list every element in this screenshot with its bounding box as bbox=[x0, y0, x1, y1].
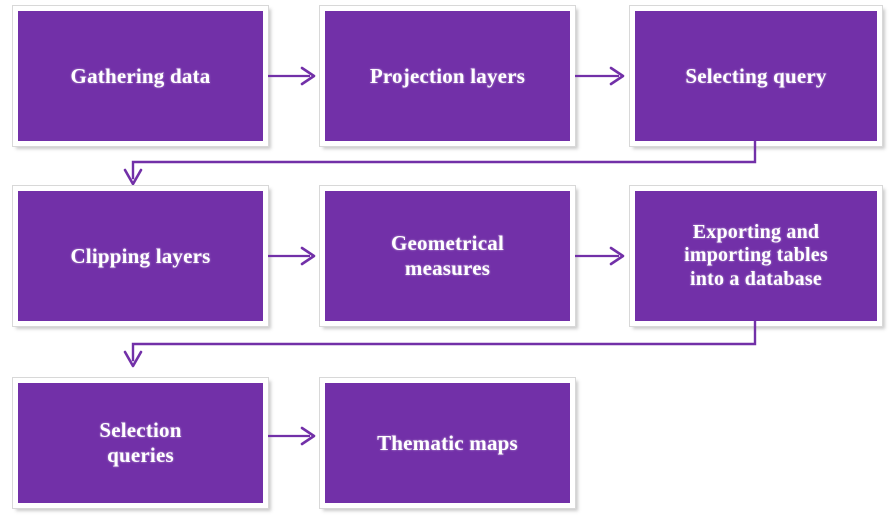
arrow-projection-layers-to-selecting-query bbox=[575, 65, 633, 87]
node-clipping-layers[interactable]: Clipping layers bbox=[13, 186, 268, 326]
node-label: Selection queries bbox=[93, 418, 187, 468]
arrow-geometrical-measures-to-exporting-importing-tables bbox=[575, 245, 633, 267]
node-label: Exporting and importing tables into a da… bbox=[678, 221, 834, 292]
flowchart-canvas: Gathering data Projection layers Selecti… bbox=[0, 0, 895, 519]
node-label: Geometrical measures bbox=[385, 231, 510, 281]
node-label: Thematic maps bbox=[371, 431, 524, 456]
node-selecting-query[interactable]: Selecting query bbox=[630, 6, 882, 146]
node-thematic-maps[interactable]: Thematic maps bbox=[320, 378, 575, 508]
node-label: Clipping layers bbox=[64, 244, 216, 269]
node-geometrical-measures[interactable]: Geometrical measures bbox=[320, 186, 575, 326]
node-selection-queries[interactable]: Selection queries bbox=[13, 378, 268, 508]
node-gathering-data[interactable]: Gathering data bbox=[13, 6, 268, 146]
arrow-clipping-layers-to-geometrical-measures bbox=[268, 245, 322, 267]
node-projection-layers[interactable]: Projection layers bbox=[320, 6, 575, 146]
arrow-selection-queries-to-thematic-maps bbox=[268, 425, 322, 447]
node-label: Selecting query bbox=[679, 64, 832, 89]
connector-selecting-query-to-clipping-layers bbox=[120, 140, 765, 188]
node-exporting-importing-tables[interactable]: Exporting and importing tables into a da… bbox=[630, 186, 882, 326]
node-label: Projection layers bbox=[364, 64, 531, 89]
arrow-gathering-data-to-projection-layers bbox=[268, 65, 322, 87]
connector-exporting-importing-tables-to-selection-queries bbox=[120, 320, 765, 370]
node-label: Gathering data bbox=[65, 64, 217, 89]
